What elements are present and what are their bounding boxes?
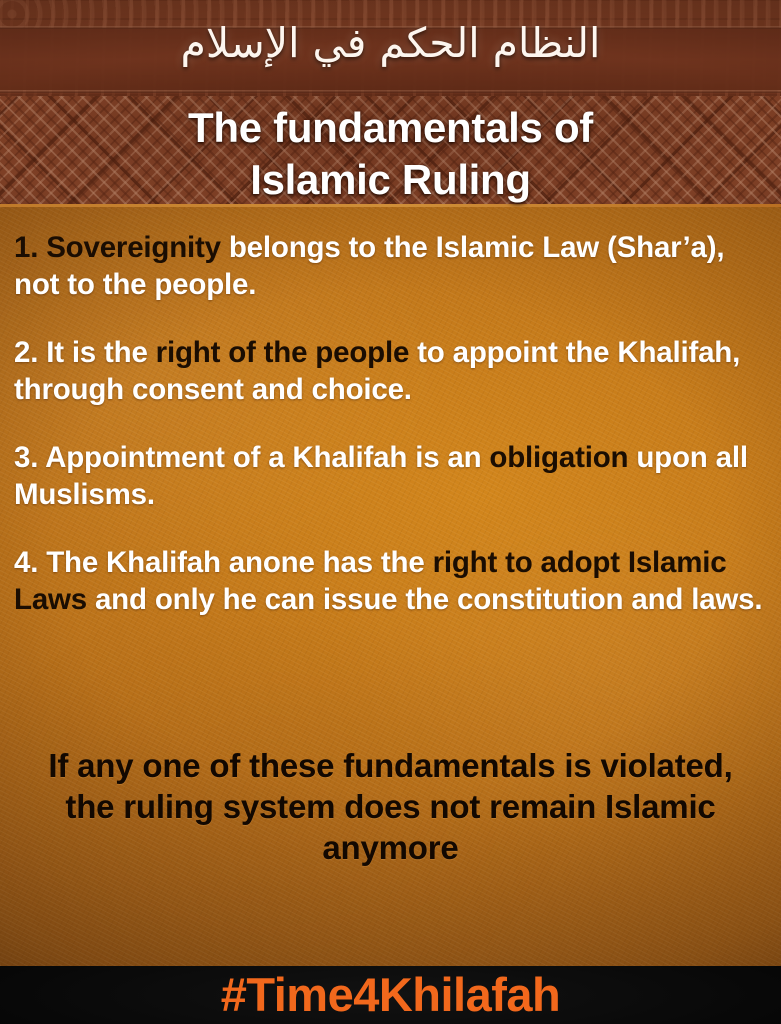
point-4-segment-3: and only he can issue the constitution a… [87,583,762,616]
point-4-segment-1: 4. The Khalifah anone has the [14,546,433,579]
page-title: The fundamentals of Islamic Ruling [0,102,781,206]
fundamental-point-3: 3. Appointment of a Khalifah is an oblig… [14,439,767,513]
point-3-segment-1: 3. Appointment of a Khalifah is an [14,441,489,474]
point-1-segment-1: 1. Sovereignity [14,231,221,264]
point-2-segment-1: 2. It is the [14,336,156,369]
hashtag-label: #Time4Khilafah [221,970,561,1020]
poster-header: النظام الحكم في الإسلام The fundamentals… [0,0,781,207]
page-title-line-2: Islamic Ruling [0,154,781,206]
fundamental-point-4: 4. The Khalifah anone has the right to a… [14,544,767,618]
point-3-segment-2: obligation [489,441,628,474]
fundamental-point-1: 1. Sovereignity belongs to the Islamic L… [14,229,767,303]
fundamentals-list: 1. Sovereignity belongs to the Islamic L… [0,207,781,649]
page-title-line-1: The fundamentals of [0,102,781,154]
poster-body: 1. Sovereignity belongs to the Islamic L… [0,207,781,966]
point-2-segment-2: right of the people [156,336,410,369]
fundamental-point-2: 2. It is the right of the people to appo… [14,334,767,408]
poster-root: النظام الحكم في الإسلام The fundamentals… [0,0,781,1024]
poster-footer: #Time4Khilafah [0,966,781,1024]
arabic-title: النظام الحكم في الإسلام [0,12,781,74]
conclusion-statement: If any one of these fundamentals is viol… [0,745,781,868]
